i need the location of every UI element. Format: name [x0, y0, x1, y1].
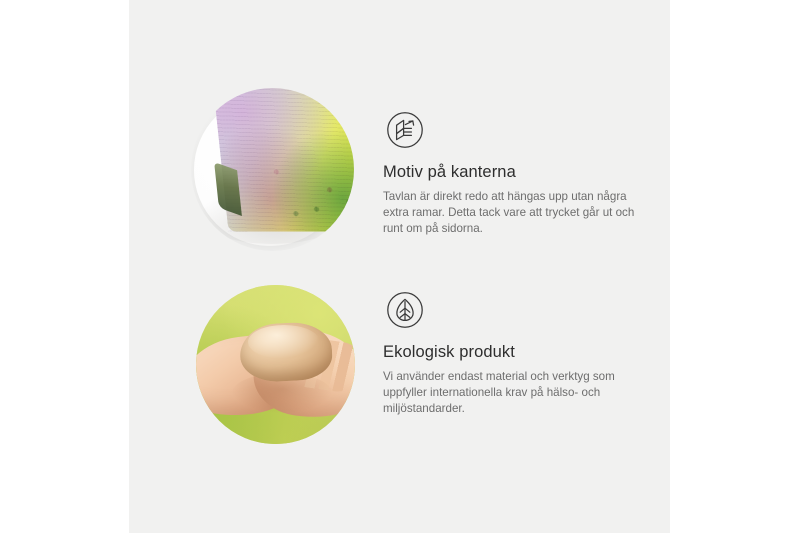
- wood-chips-highlight: [248, 325, 320, 359]
- feature-title: Motiv på kanterna: [383, 162, 653, 182]
- feature-title: Ekologisk produkt: [383, 342, 653, 362]
- feature-description: Tavlan är direkt redo att hängas upp uta…: [383, 189, 645, 238]
- canvas-print-corner-photo: [191, 88, 354, 251]
- leaf-icon: [383, 288, 427, 332]
- feature-text-ekologisk-produkt: Ekologisk produkt Vi använder endast mat…: [383, 288, 653, 418]
- content-panel: [129, 0, 670, 533]
- feature-text-motiv-pa-kanterna: Motiv på kanterna Tavlan är direkt redo …: [383, 108, 653, 238]
- product-feature-infographic: Motiv på kanterna Tavlan är direkt redo …: [0, 0, 800, 533]
- hands-holding-wood-chips-photo: [196, 285, 355, 444]
- canvas-wrapped-edge-icon: [383, 108, 427, 152]
- feature-description: Vi använder endast material och verktyg …: [383, 369, 645, 418]
